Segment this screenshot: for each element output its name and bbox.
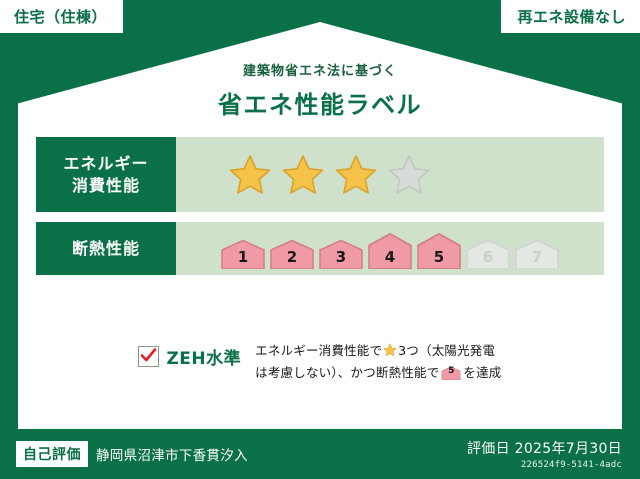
insulation-level-scale: 1234567: [220, 232, 560, 275]
energy-performance-label: エネルギー 消費性能: [36, 137, 176, 212]
insulation-performance-value: 1234567: [176, 222, 604, 275]
insulation-level-number: 6: [465, 248, 511, 266]
insulation-level-badge: 1: [220, 239, 266, 269]
insulation-level-number: 5: [416, 248, 462, 266]
insulation-performance-row: 断熱性能 1234567: [36, 222, 604, 275]
insulation-level-badge: 4: [367, 232, 413, 269]
check-icon: [140, 347, 157, 364]
title-subtitle: 建築物省エネ法に基づく: [18, 60, 622, 79]
footer-left: 自己評価 静岡県沼津市下香貫汐入: [0, 441, 248, 467]
zeh-label: ZEH水準: [166, 344, 241, 369]
energy-performance-label-line1: エネルギー: [63, 153, 148, 175]
metric-rows: エネルギー 消費性能 断熱性能 1234567: [36, 137, 604, 285]
insulation-level-badge: 5: [416, 232, 462, 269]
insulation-level-number: 1: [220, 248, 266, 266]
label-card: 建築物省エネ法に基づく 省エネ性能ラベル エネルギー 消費性能 断熱性能: [18, 22, 622, 429]
insulation-achieved-badge: 5: [441, 366, 461, 380]
evaluation-id: 226524f9-5141-4adc: [467, 460, 622, 470]
star-icon-empty: [387, 153, 431, 197]
insulation-performance-label-text: 断熱性能: [72, 238, 140, 260]
building-type-tag: 住宅（住棟）: [0, 0, 123, 33]
insulation-level-badge: 7: [514, 239, 560, 269]
star-icon-inline: [383, 343, 397, 357]
building-type-label: 住宅（住棟）: [14, 6, 107, 27]
title-block: 建築物省エネ法に基づく 省エネ性能ラベル: [18, 60, 622, 120]
label-card-inner: 建築物省エネ法に基づく 省エネ性能ラベル エネルギー 消費性能 断熱性能: [18, 22, 622, 429]
zeh-desc-part4: を達成: [463, 365, 501, 380]
evaluation-date: 評価日 2025年7月30日: [467, 438, 622, 458]
insulation-level-number: 4: [367, 248, 413, 266]
zeh-description: エネルギー消費性能で3つ（太陽光発電 は考慮しない）、かつ断熱性能で5を達成: [255, 340, 501, 384]
zeh-checkbox[interactable]: [138, 346, 159, 367]
renewable-energy-tag: 再エネ設備なし: [501, 0, 640, 33]
footer-right: 評価日 2025年7月30日 226524f9-5141-4adc: [467, 438, 640, 470]
renewable-energy-label: 再エネ設備なし: [517, 6, 626, 27]
zeh-desc-part1: エネルギー消費性能で: [255, 343, 382, 358]
zeh-desc-part2: 3つ（太陽光発電: [398, 343, 495, 358]
page-title: 省エネ性能ラベル: [18, 85, 622, 120]
zeh-section: ZEH水準 エネルギー消費性能で3つ（太陽光発電 は考慮しない）、かつ断熱性能で…: [18, 340, 622, 384]
property-address: 静岡県沼津市下香貫汐入: [96, 444, 248, 464]
energy-performance-value: [176, 137, 604, 212]
footer-bar: 自己評価 静岡県沼津市下香貫汐入 評価日 2025年7月30日 226524f9…: [0, 429, 640, 479]
insulation-performance-label: 断熱性能: [36, 222, 176, 275]
insulation-achieved-value: 5: [441, 364, 461, 380]
star-rating: [228, 153, 431, 197]
self-evaluation-badge: 自己評価: [16, 441, 88, 467]
insulation-level-badge: 3: [318, 239, 364, 269]
star-icon-filled: [281, 153, 325, 197]
energy-performance-row: エネルギー 消費性能: [36, 137, 604, 212]
star-icon-filled: [228, 153, 272, 197]
insulation-level-number: 3: [318, 248, 364, 266]
star-icon-filled: [334, 153, 378, 197]
zeh-desc-part3: は考慮しない）、かつ断熱性能で: [255, 365, 439, 380]
insulation-level-badge: 2: [269, 239, 315, 269]
insulation-level-badge: 6: [465, 239, 511, 269]
insulation-level-number: 2: [269, 248, 315, 266]
energy-performance-label-line2: 消費性能: [72, 175, 140, 197]
zeh-checkbox-group: ZEH水準: [138, 340, 241, 369]
insulation-level-number: 7: [514, 248, 560, 266]
